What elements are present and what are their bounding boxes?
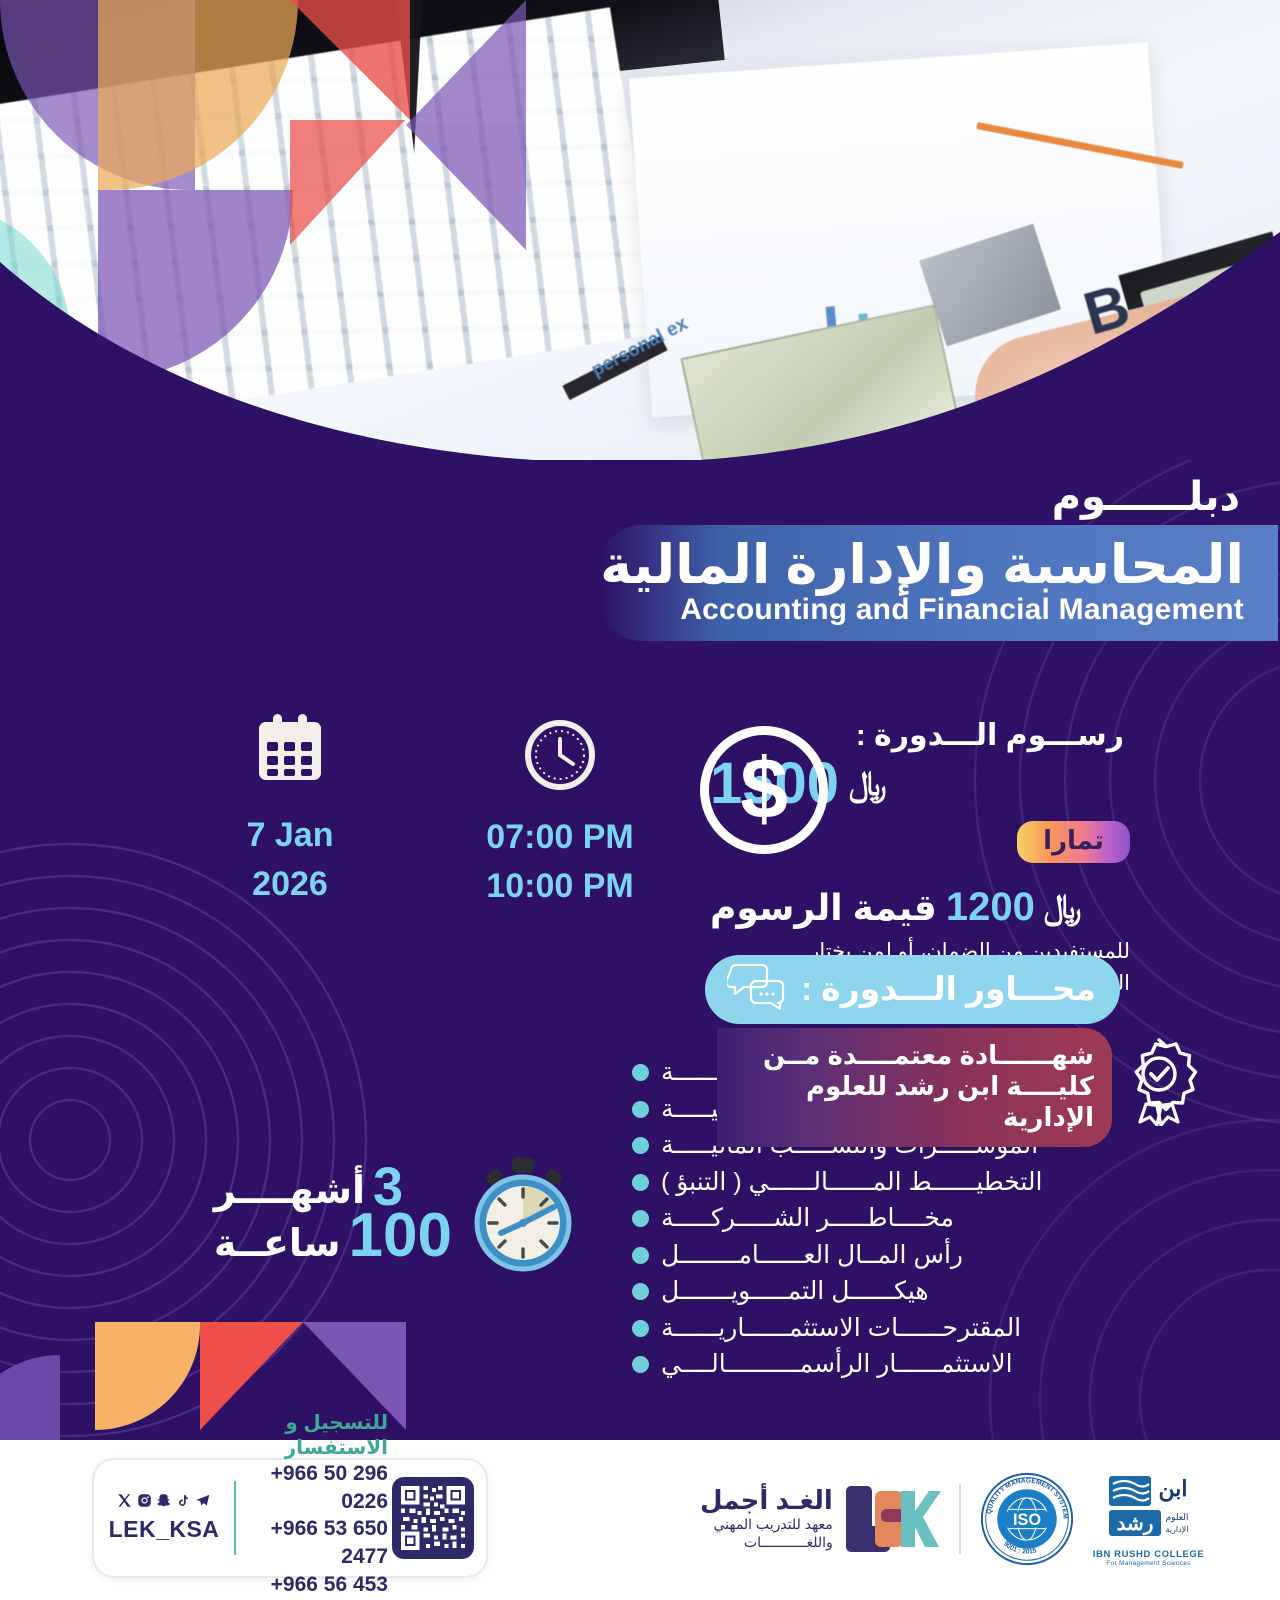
time-start: 07:00 PM <box>470 813 650 862</box>
ibn-rushd-subtitle-en: For Management Sciences <box>1093 1560 1205 1567</box>
bullet-dot-icon <box>632 1101 649 1118</box>
lek-mark-icon <box>845 1483 941 1555</box>
poster-root: personal ex B <box>0 0 1280 1600</box>
x-icon[interactable] <box>117 1493 132 1508</box>
topic-label: رأس المــال العــــــامــــــــل <box>661 1238 963 1274</box>
tiktok-icon[interactable] <box>177 1493 190 1508</box>
dollar-icon: $ <box>700 726 828 854</box>
deco-quarter-circle-orange-bottom <box>95 1322 200 1430</box>
list-item: المقترحــــــات الاستثمــــــاريــــــة <box>632 1311 1152 1347</box>
topic-label: المقترحــــــات الاستثمــــــاريــــــة <box>661 1311 1021 1347</box>
svg-text:ابن: ابن <box>1158 1476 1187 1502</box>
tamara-badge[interactable]: تمارا <box>1017 821 1130 863</box>
topic-label: هيكــــــل التمـــــويـــــــل <box>661 1274 929 1310</box>
discount-row: ﷼ 1200 قيمة الرسوم <box>710 885 1130 930</box>
bullet-dot-icon <box>632 1210 649 1227</box>
list-item: التخطيــــــط المــــــالــــــي ( التنب… <box>632 1165 1152 1201</box>
bullet-dot-icon <box>632 1174 649 1191</box>
hero-photo-banner: personal ex B <box>0 0 1280 460</box>
iso-label: ISO <box>1013 1511 1041 1529</box>
qr-code-icon[interactable] <box>392 1477 474 1559</box>
bullet-dot-icon <box>632 1064 649 1081</box>
certificate-line2: كليــــة ابن رشد للعلوم الإدارية <box>745 1071 1094 1133</box>
certificate-pill: شهــــــادة معتمــــدة مــن كليــــة ابن… <box>717 1028 1112 1147</box>
phone-number[interactable]: +966 50 296 0226 <box>250 1460 388 1515</box>
instagram-icon[interactable] <box>137 1493 152 1508</box>
date-year: 2026 <box>200 860 380 909</box>
schedule-date-block: 7 Jan 2026 <box>200 712 380 910</box>
duration-block: 3 أشهــــر 100 ساعــة <box>214 1155 580 1273</box>
telegram-icon[interactable] <box>195 1493 211 1508</box>
duration-hours-number: 100 <box>349 1207 452 1266</box>
contact-details: للتسجيل و الاستفسار +966 50 296 0226 +96… <box>236 1410 388 1600</box>
svg-text:رشد: رشد <box>1116 1513 1153 1536</box>
discount-label: قيمة الرسوم <box>710 887 937 929</box>
footer-bar: LEK_KSA للتسجيل و الاستفسار +966 50 296 … <box>0 1440 1280 1600</box>
snapchat-icon[interactable] <box>157 1493 172 1508</box>
discount-riyal-symbol: ﷼ <box>1044 888 1082 927</box>
duration-hours-label: ساعــة <box>214 1221 341 1266</box>
lek-subtitle: معهد للتدريب المهني واللغـــــــــــات <box>700 1516 833 1552</box>
topic-label: الاستثمــــــار الرأسمــــــــــالــــي <box>661 1347 1013 1383</box>
stopwatch-icon <box>468 1155 580 1273</box>
phone-number[interactable]: +966 53 650 2477 <box>250 1515 388 1570</box>
iso-certification-icon: ISO QUALITY MANAGEMENT SYSTEM 9001 : 201… <box>979 1471 1075 1567</box>
time-end: 10:00 PM <box>470 862 650 911</box>
logo-divider <box>959 1484 961 1554</box>
duration-months-label: أشهــــر <box>214 1168 365 1213</box>
bullet-dot-icon <box>632 1247 649 1264</box>
social-block: LEK_KSA <box>94 1493 234 1543</box>
topics-badge-label: محـــاور الـــدورة : <box>801 969 1096 1008</box>
list-item: الاستثمــــــار الرأسمــــــــــالــــي <box>632 1347 1152 1383</box>
course-title-english: Accounting and Financial Management <box>626 593 1244 627</box>
topic-label: مخــــاطـــــر الشـــــركـــــة <box>661 1201 954 1237</box>
dollar-symbol: $ <box>740 751 788 828</box>
bullet-dot-icon <box>632 1320 649 1337</box>
list-item: هيكــــــل التمـــــويـــــــل <box>632 1274 1152 1310</box>
certificate-line1: شهــــــادة معتمــــدة مــن <box>745 1040 1094 1071</box>
social-icons-row <box>94 1493 234 1508</box>
bullet-dot-icon <box>632 1137 649 1154</box>
course-title-arabic: المحاسبة والإدارة المالية <box>626 535 1244 595</box>
list-item: رأس المــال العــــــامــــــــل <box>632 1238 1152 1274</box>
title-block: دبلــــــوم المحاسبة والإدارة المالية Ac… <box>320 475 1240 641</box>
diploma-label: دبلــــــوم <box>320 475 1240 519</box>
contact-card: LEK_KSA للتسجيل و الاستفسار +966 50 296 … <box>92 1458 488 1578</box>
clock-icon <box>523 718 597 792</box>
svg-text:الإدارية: الإدارية <box>1165 1525 1188 1534</box>
lek-text: الغـد أجمل معهد للتدريب المهني واللغــــ… <box>700 1486 833 1552</box>
topics-header-badge: محـــاور الـــدورة : <box>705 955 1120 1024</box>
discount-amount: 1200 <box>946 885 1035 930</box>
calendar-icon <box>253 712 327 790</box>
award-rosette-icon <box>1116 1034 1202 1126</box>
topic-label: التخطيــــــط المــــــالــــــي ( التنب… <box>661 1165 1043 1201</box>
deco-triangle-red-1 <box>290 0 410 120</box>
title-pill: المحاسبة والإدارة المالية Accounting and… <box>598 525 1278 641</box>
lek-tagline: الغـد أجمل <box>700 1486 833 1514</box>
schedule-time-block: 07:00 PM 10:00 PM <box>470 718 650 912</box>
partner-logos: الغـد أجمل معهد للتدريب المهني واللغــــ… <box>700 1456 1240 1582</box>
svg-text:العلوم: العلوم <box>1165 1512 1188 1523</box>
hero-wave-divider <box>0 222 1280 460</box>
phone-number[interactable]: +966 56 453 0919 <box>250 1571 388 1600</box>
duration-hours-row: 100 ساعــة <box>214 1207 452 1266</box>
chat-bubbles-icon <box>727 964 787 1012</box>
contact-title: للتسجيل و الاستفسار <box>250 1410 388 1460</box>
list-item: مخــــاطـــــر الشـــــركـــــة <box>632 1201 1152 1237</box>
ibn-rushd-logo: ابن رشد العلوم الإدارية IBN RUSHD COLLEG… <box>1093 1472 1205 1567</box>
date-day: 7 Jan <box>200 811 380 860</box>
duration-text: 3 أشهــــر 100 ساعــة <box>214 1162 452 1266</box>
ibn-rushd-name-en: IBN RUSHD COLLEGE <box>1093 1549 1205 1560</box>
bullet-dot-icon <box>632 1283 649 1300</box>
social-handle[interactable]: LEK_KSA <box>94 1516 234 1543</box>
bullet-dot-icon <box>632 1356 649 1373</box>
ibn-rushd-mark-icon: ابن رشد العلوم الإدارية <box>1103 1472 1195 1544</box>
lek-logo: الغـد أجمل معهد للتدريب المهني واللغــــ… <box>700 1483 941 1555</box>
riyal-symbol: ﷼ <box>849 765 887 804</box>
